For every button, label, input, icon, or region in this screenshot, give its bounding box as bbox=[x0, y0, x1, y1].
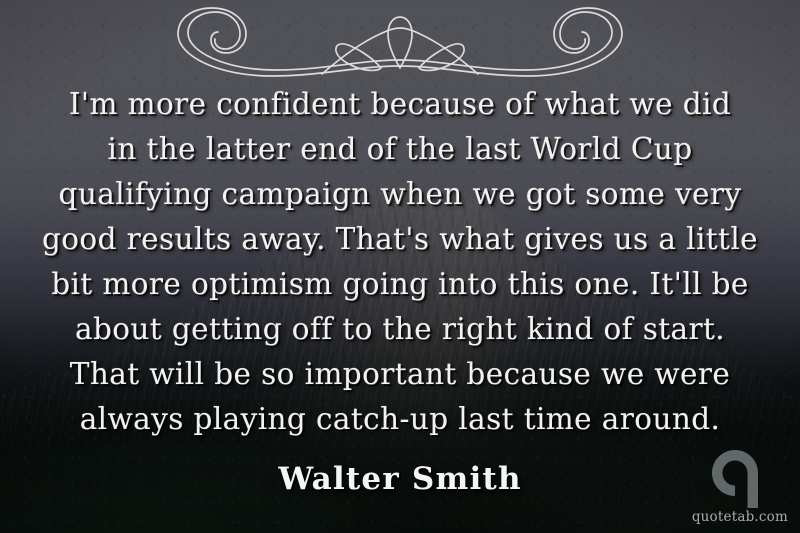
quote-text-block: I'm more confident because of what we di… bbox=[30, 82, 770, 442]
quote-card: I'm more confident because of what we di… bbox=[0, 0, 800, 533]
quote-line: bit more optimism going into this one. I… bbox=[30, 262, 770, 307]
quote-line: about getting off to the right kind of s… bbox=[30, 307, 770, 352]
quote-line: good results away. That's what gives us … bbox=[30, 217, 770, 262]
watermark-site-label: quotetab.com bbox=[692, 509, 788, 525]
quote-line: That will be so important because we wer… bbox=[30, 352, 770, 397]
quote-line: always playing catch-up last time around… bbox=[30, 397, 770, 442]
site-watermark[interactable]: quotetab.com bbox=[692, 450, 788, 525]
quotetab-q-logo-icon bbox=[712, 450, 768, 508]
quote-author-name: Walter Smith bbox=[278, 461, 521, 497]
card-content: I'm more confident because of what we di… bbox=[0, 0, 800, 533]
quote-line: qualifying campaign when we got some ver… bbox=[30, 172, 770, 217]
quote-line: in the latter end of the last World Cup bbox=[30, 127, 770, 172]
flourish-ornament-icon bbox=[100, 4, 700, 80]
quote-line: I'm more confident because of what we di… bbox=[30, 82, 770, 127]
